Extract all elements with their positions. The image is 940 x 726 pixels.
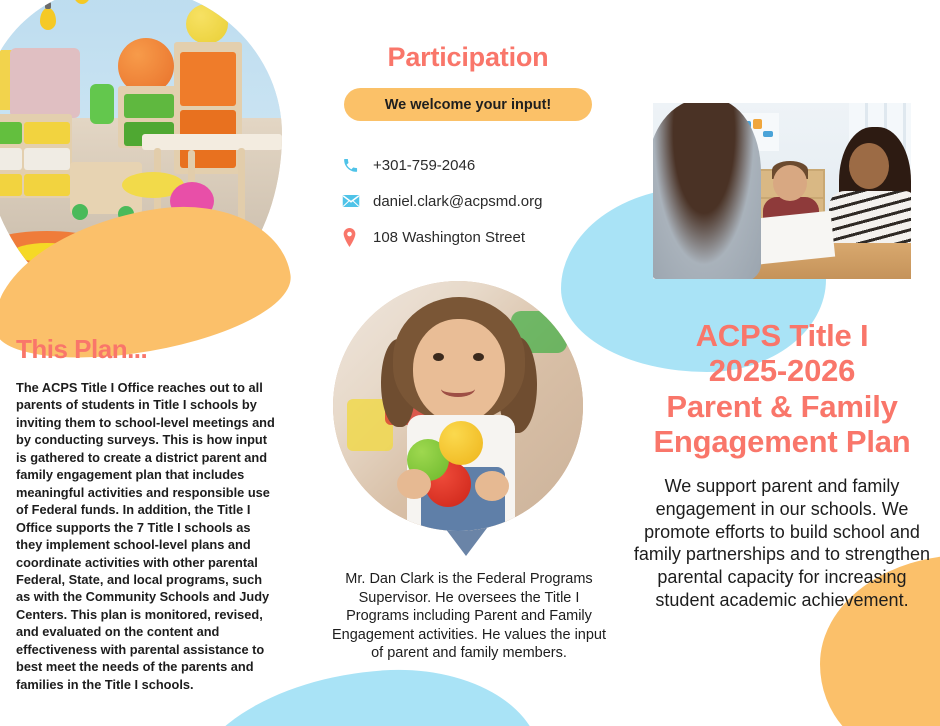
dan-clark-caption: Mr. Dan Clark is the Federal Programs Su…: [326, 570, 612, 663]
welcome-input-badge: We welcome your input!: [344, 88, 592, 121]
title-line: Parent & Family: [628, 389, 936, 424]
mission-statement: We support parent and family engagement …: [628, 475, 936, 611]
title-line: Engagement Plan: [628, 424, 936, 459]
parent-teacher-conference-photo: [653, 103, 911, 279]
contact-row-address[interactable]: 108 Washington Street: [342, 219, 618, 255]
contact-list: +301-759-2046 daniel.clark@acpsmd.org: [342, 147, 618, 255]
contact-row-phone[interactable]: +301-759-2046: [342, 147, 618, 183]
this-plan-heading: This Plan...: [16, 334, 278, 365]
center-panel: Participation We welcome your input! +30…: [318, 42, 618, 255]
brochure-title: ACPS Title I 2025-2026 Parent & Family E…: [628, 318, 936, 459]
email-address: daniel.clark@acpsmd.org: [373, 193, 542, 210]
envelope-icon: [342, 194, 368, 208]
location-pin-icon: [342, 228, 368, 247]
phone-icon: [342, 157, 368, 174]
brochure-page: This Plan... The ACPS Title I Office rea…: [0, 0, 940, 726]
left-panel: This Plan... The ACPS Title I Office rea…: [16, 334, 278, 693]
title-line: ACPS Title I: [628, 318, 936, 353]
dan-clark-portrait-photo: [333, 281, 583, 531]
right-panel: ACPS Title I 2025-2026 Parent & Family E…: [628, 318, 936, 611]
title-line: 2025-2026: [628, 353, 936, 388]
street-address: 108 Washington Street: [373, 229, 525, 246]
participation-heading: Participation: [318, 42, 618, 73]
contact-row-email[interactable]: daniel.clark@acpsmd.org: [342, 183, 618, 219]
this-plan-body-text: The ACPS Title I Office reaches out to a…: [16, 379, 278, 693]
phone-number: +301-759-2046: [373, 157, 475, 174]
